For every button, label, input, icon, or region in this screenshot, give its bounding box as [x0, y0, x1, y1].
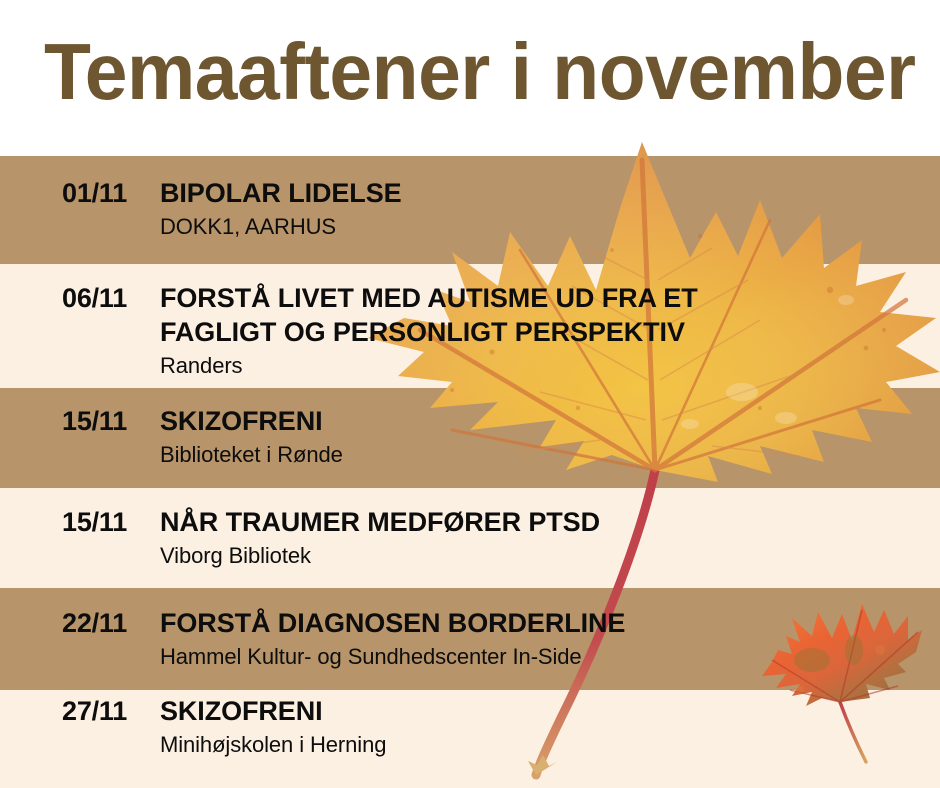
- event-title-line1: SKIZOFRENI: [160, 406, 323, 436]
- event-venue: Randers: [160, 351, 930, 381]
- event-date: 15/11: [0, 505, 160, 539]
- event-date: 22/11: [0, 606, 160, 640]
- event-row-4[interactable]: 15/11 NÅR TRAUMER MEDFØRER PTSD Viborg B…: [0, 505, 940, 571]
- event-row-3[interactable]: 15/11 SKIZOFRENI Biblioteket i Rønde: [0, 404, 940, 470]
- event-title-line1: BIPOLAR LIDELSE: [160, 178, 402, 208]
- event-venue: Minihøjskolen i Herning: [160, 730, 930, 760]
- event-body: SKIZOFRENI Biblioteket i Rønde: [160, 404, 940, 470]
- event-body: BIPOLAR LIDELSE DOKK1, AARHUS: [160, 176, 940, 242]
- event-title-line1: SKIZOFRENI: [160, 696, 323, 726]
- event-venue: Biblioteket i Rønde: [160, 440, 930, 470]
- event-title: FORSTÅ LIVET MED AUTISME UD FRA ET FAGLI…: [160, 281, 930, 349]
- poster-canvas: Temaaftener i november 01/11 BIPOLAR LID…: [0, 0, 940, 788]
- event-title-line1: FORSTÅ LIVET MED AUTISME UD FRA ET: [160, 283, 698, 313]
- event-row-2[interactable]: 06/11 FORSTÅ LIVET MED AUTISME UD FRA ET…: [0, 281, 940, 381]
- event-row-6[interactable]: 27/11 SKIZOFRENI Minihøjskolen i Herning: [0, 694, 940, 760]
- event-row-5[interactable]: 22/11 FORSTÅ DIAGNOSEN BORDERLINE Hammel…: [0, 606, 940, 672]
- event-title-line2: FAGLIGT OG PERSONLIGT PERSPEKTIV: [160, 315, 930, 349]
- event-body: FORSTÅ LIVET MED AUTISME UD FRA ET FAGLI…: [160, 281, 940, 381]
- event-title: FORSTÅ DIAGNOSEN BORDERLINE: [160, 606, 930, 640]
- event-venue: Viborg Bibliotek: [160, 541, 930, 571]
- event-row-1[interactable]: 01/11 BIPOLAR LIDELSE DOKK1, AARHUS: [0, 176, 940, 242]
- event-title-line1: FORSTÅ DIAGNOSEN BORDERLINE: [160, 608, 625, 638]
- event-date: 01/11: [0, 176, 160, 210]
- event-date: 15/11: [0, 404, 160, 438]
- event-body: SKIZOFRENI Minihøjskolen i Herning: [160, 694, 940, 760]
- event-date: 27/11: [0, 694, 160, 728]
- page-title: Temaaftener i november: [44, 28, 879, 116]
- event-title: NÅR TRAUMER MEDFØRER PTSD: [160, 505, 930, 539]
- event-title-line1: NÅR TRAUMER MEDFØRER PTSD: [160, 507, 600, 537]
- event-date: 06/11: [0, 281, 160, 315]
- event-title: BIPOLAR LIDELSE: [160, 176, 930, 210]
- event-title: SKIZOFRENI: [160, 404, 930, 438]
- event-body: FORSTÅ DIAGNOSEN BORDERLINE Hammel Kultu…: [160, 606, 940, 672]
- event-venue: DOKK1, AARHUS: [160, 212, 930, 242]
- event-venue: Hammel Kultur- og Sundhedscenter In-Side: [160, 642, 930, 672]
- event-title: SKIZOFRENI: [160, 694, 930, 728]
- event-body: NÅR TRAUMER MEDFØRER PTSD Viborg Bibliot…: [160, 505, 940, 571]
